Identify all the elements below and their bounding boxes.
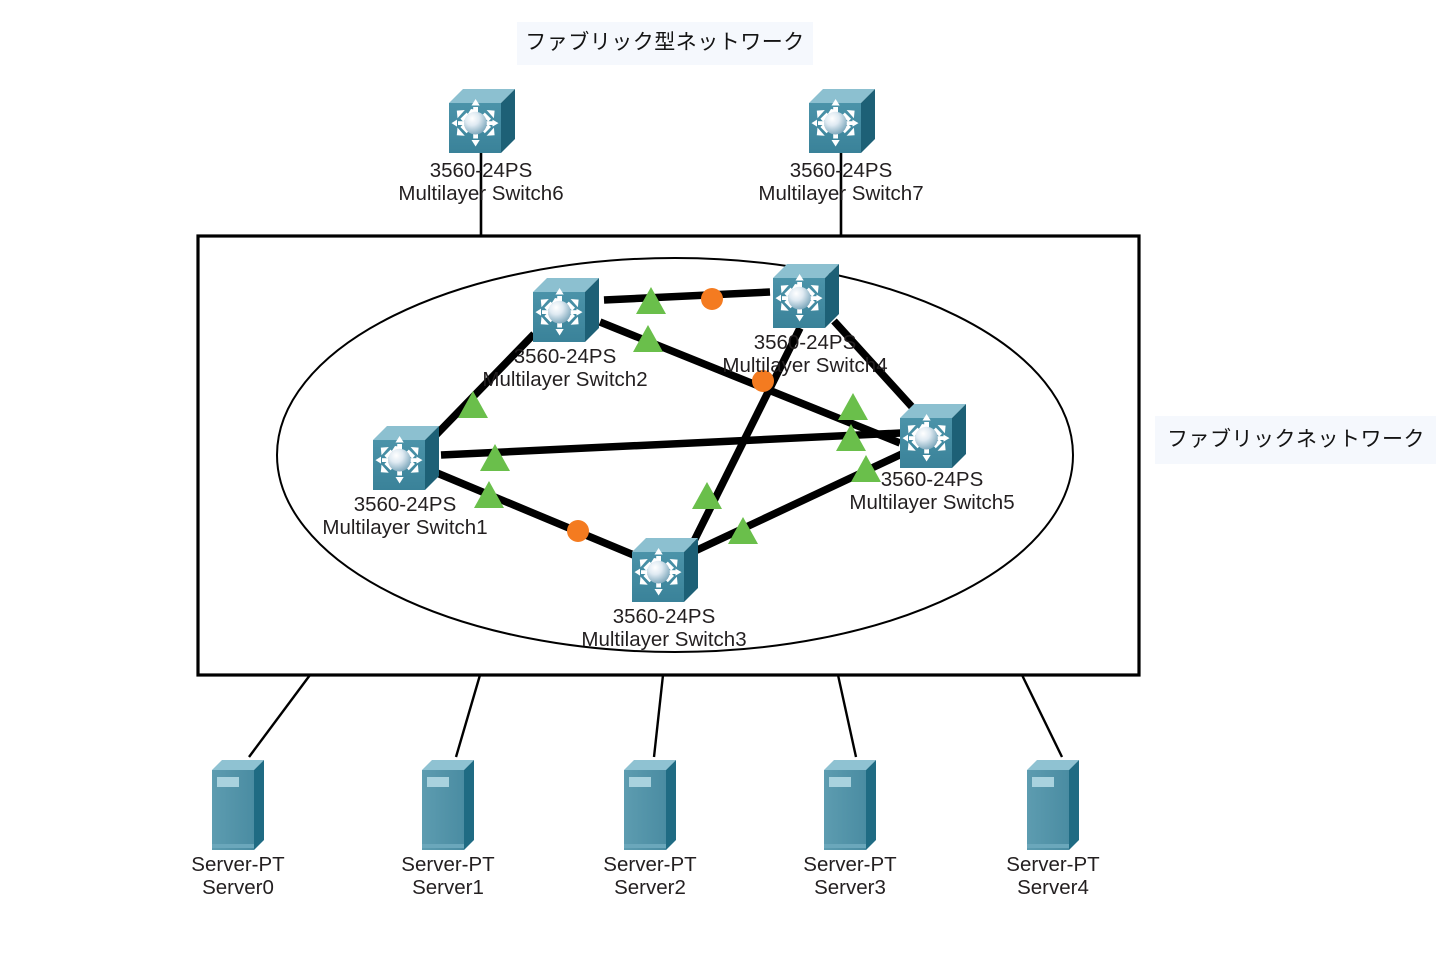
node-server4[interactable]: Server-PT Server4 — [1021, 752, 1085, 856]
downlink-server1 — [456, 675, 480, 757]
downlink-server3 — [838, 675, 856, 757]
multilayer-switch-icon — [892, 400, 972, 474]
node-server0-model: Server-PT — [191, 853, 284, 876]
node-switch5-name: Multilayer Switch5 — [849, 491, 1014, 514]
multilayer-switch-icon — [441, 85, 521, 159]
node-server2-caption: Server-PT Server2 — [603, 853, 696, 899]
orange-circle-marker — [701, 288, 723, 310]
link-switch1-switch5 — [441, 433, 901, 455]
downlink-server4 — [1022, 675, 1062, 757]
node-switch3-caption: 3560-24PS Multilayer Switch3 — [581, 605, 746, 651]
green-triangle-marker — [838, 393, 868, 420]
node-switch6[interactable]: 3560-24PS Multilayer Switch6 — [441, 85, 521, 159]
server-tower-icon — [1021, 752, 1085, 856]
node-server1[interactable]: Server-PT Server1 — [416, 752, 480, 856]
node-server4-name: Server4 — [1006, 876, 1099, 899]
node-switch4-caption: 3560-24PS Multilayer Switch4 — [722, 331, 887, 377]
node-switch5-caption: 3560-24PS Multilayer Switch5 — [849, 468, 1014, 514]
node-server4-caption: Server-PT Server4 — [1006, 853, 1099, 899]
server-tower-icon — [416, 752, 480, 856]
multilayer-switch-icon — [624, 534, 704, 608]
downlink-server2 — [654, 675, 663, 757]
green-triangle-marker — [480, 444, 510, 471]
node-switch6-caption: 3560-24PS Multilayer Switch6 — [398, 159, 563, 205]
multilayer-switch-icon — [525, 274, 605, 348]
node-switch4-model: 3560-24PS — [722, 331, 887, 354]
node-switch2-model: 3560-24PS — [482, 345, 647, 368]
node-switch4[interactable]: 3560-24PS Multilayer Switch4 — [765, 260, 845, 334]
multilayer-switch-icon — [801, 85, 881, 159]
node-server3-model: Server-PT — [803, 853, 896, 876]
node-switch3[interactable]: 3560-24PS Multilayer Switch3 — [624, 534, 704, 608]
link-switch2-switch4 — [604, 292, 770, 300]
multilayer-switch-icon — [365, 422, 445, 496]
node-switch1[interactable]: 3560-24PS Multilayer Switch1 — [365, 422, 445, 496]
node-server3[interactable]: Server-PT Server3 — [818, 752, 882, 856]
node-switch1-model: 3560-24PS — [322, 493, 487, 516]
node-switch6-name: Multilayer Switch6 — [398, 182, 563, 205]
node-switch7-caption: 3560-24PS Multilayer Switch7 — [758, 159, 923, 205]
node-switch5-model: 3560-24PS — [849, 468, 1014, 491]
server-tower-icon — [206, 752, 270, 856]
node-server1-model: Server-PT — [401, 853, 494, 876]
node-switch7[interactable]: 3560-24PS Multilayer Switch7 — [801, 85, 881, 159]
node-switch4-name: Multilayer Switch4 — [722, 354, 887, 377]
node-switch3-model: 3560-24PS — [581, 605, 746, 628]
node-switch1-caption: 3560-24PS Multilayer Switch1 — [322, 493, 487, 539]
node-server2-name: Server2 — [603, 876, 696, 899]
node-switch3-name: Multilayer Switch3 — [581, 628, 746, 651]
node-switch1-name: Multilayer Switch1 — [322, 516, 487, 539]
node-server1-name: Server1 — [401, 876, 494, 899]
node-server3-name: Server3 — [803, 876, 896, 899]
server-tower-icon — [818, 752, 882, 856]
node-switch2-name: Multilayer Switch2 — [482, 368, 647, 391]
node-switch6-model: 3560-24PS — [398, 159, 563, 182]
node-server2[interactable]: Server-PT Server2 — [618, 752, 682, 856]
node-switch2-caption: 3560-24PS Multilayer Switch2 — [482, 345, 647, 391]
node-server0[interactable]: Server-PT Server0 — [206, 752, 270, 856]
node-server0-caption: Server-PT Server0 — [191, 853, 284, 899]
node-server4-model: Server-PT — [1006, 853, 1099, 876]
node-server1-caption: Server-PT Server1 — [401, 853, 494, 899]
multilayer-switch-icon — [765, 260, 845, 334]
node-switch5[interactable]: 3560-24PS Multilayer Switch5 — [892, 400, 972, 474]
node-switch7-model: 3560-24PS — [758, 159, 923, 182]
node-switch7-name: Multilayer Switch7 — [758, 182, 923, 205]
downlink-server0 — [249, 675, 310, 757]
node-switch2[interactable]: 3560-24PS Multilayer Switch2 — [525, 274, 605, 348]
orange-circle-marker — [567, 520, 589, 542]
node-server0-name: Server0 — [191, 876, 284, 899]
node-server2-model: Server-PT — [603, 853, 696, 876]
server-tower-icon — [618, 752, 682, 856]
network-diagram-canvas: ファブリック型ネットワーク ファブリックネットワーク — [0, 0, 1456, 956]
node-server3-caption: Server-PT Server3 — [803, 853, 896, 899]
